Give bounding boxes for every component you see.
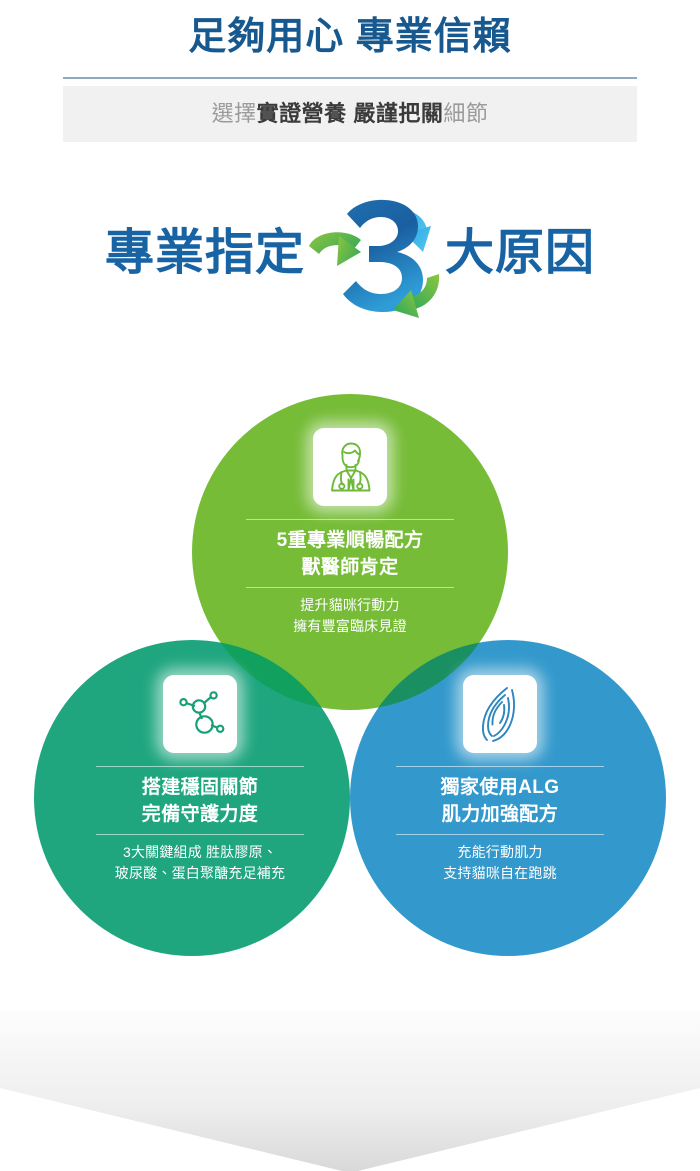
subtitle-seg-3: 嚴謹把關 [353, 101, 443, 126]
subtitle-line: 選擇實證營養 嚴謹把關細節 [212, 101, 489, 127]
node-description: 提升貓咪行動力 擁有豐富臨床見證 [220, 588, 480, 637]
node-title: 獨家使用ALG 肌力加強配方 [370, 767, 630, 834]
node-title: 5重專業順暢配方 獸醫師肯定 [220, 520, 480, 587]
subtitle-seg-1: 實證營養 [257, 101, 347, 126]
page-title: 足夠用心 專業信賴 [0, 12, 700, 62]
subtitle-seg-0: 選擇 [212, 101, 257, 126]
node-description: 3大關鍵組成 胜肽膠原、 玻尿酸、蛋白聚醣充足補充 [70, 835, 330, 884]
subtitle-band: 選擇實證營養 嚴謹把關細節 [63, 86, 637, 142]
subtitle-seg-4: 細節 [443, 101, 488, 126]
hero-left-text: 專業指定 [105, 225, 305, 281]
hero-right-text: 大原因 [445, 225, 595, 281]
venn-node-muscle: 獨家使用ALG 肌力加強配方 充能行動肌力 支持貓咪自在跑跳 [370, 675, 630, 884]
venn-node-joint: 搭建穩固關節 完備守護力度 3大關鍵組成 胜肽膠原、 玻尿酸、蛋白聚醣充足補充 [70, 675, 330, 884]
venn-node-vet: 5重專業順暢配方 獸醫師肯定 提升貓咪行動力 擁有豐富臨床見證 [220, 428, 480, 637]
molecule-icon [163, 675, 237, 753]
header-divider [63, 77, 637, 79]
number-three-arrows-icon [299, 178, 449, 328]
bottom-chevron-decoration [0, 1010, 700, 1171]
hero-headline: 專業指定 [0, 178, 700, 328]
veterinarian-icon [313, 428, 387, 506]
node-description: 充能行動肌力 支持貓咪自在跑跳 [370, 835, 630, 884]
muscle-fiber-icon [463, 675, 537, 753]
venn-diagram: 5重專業順暢配方 獸醫師肯定 提升貓咪行動力 擁有豐富臨床見證 [0, 340, 700, 1020]
promo-page: 足夠用心 專業信賴 選擇實證營養 嚴謹把關細節 專業指定 [0, 0, 700, 1171]
node-title: 搭建穩固關節 完備守護力度 [70, 767, 330, 834]
